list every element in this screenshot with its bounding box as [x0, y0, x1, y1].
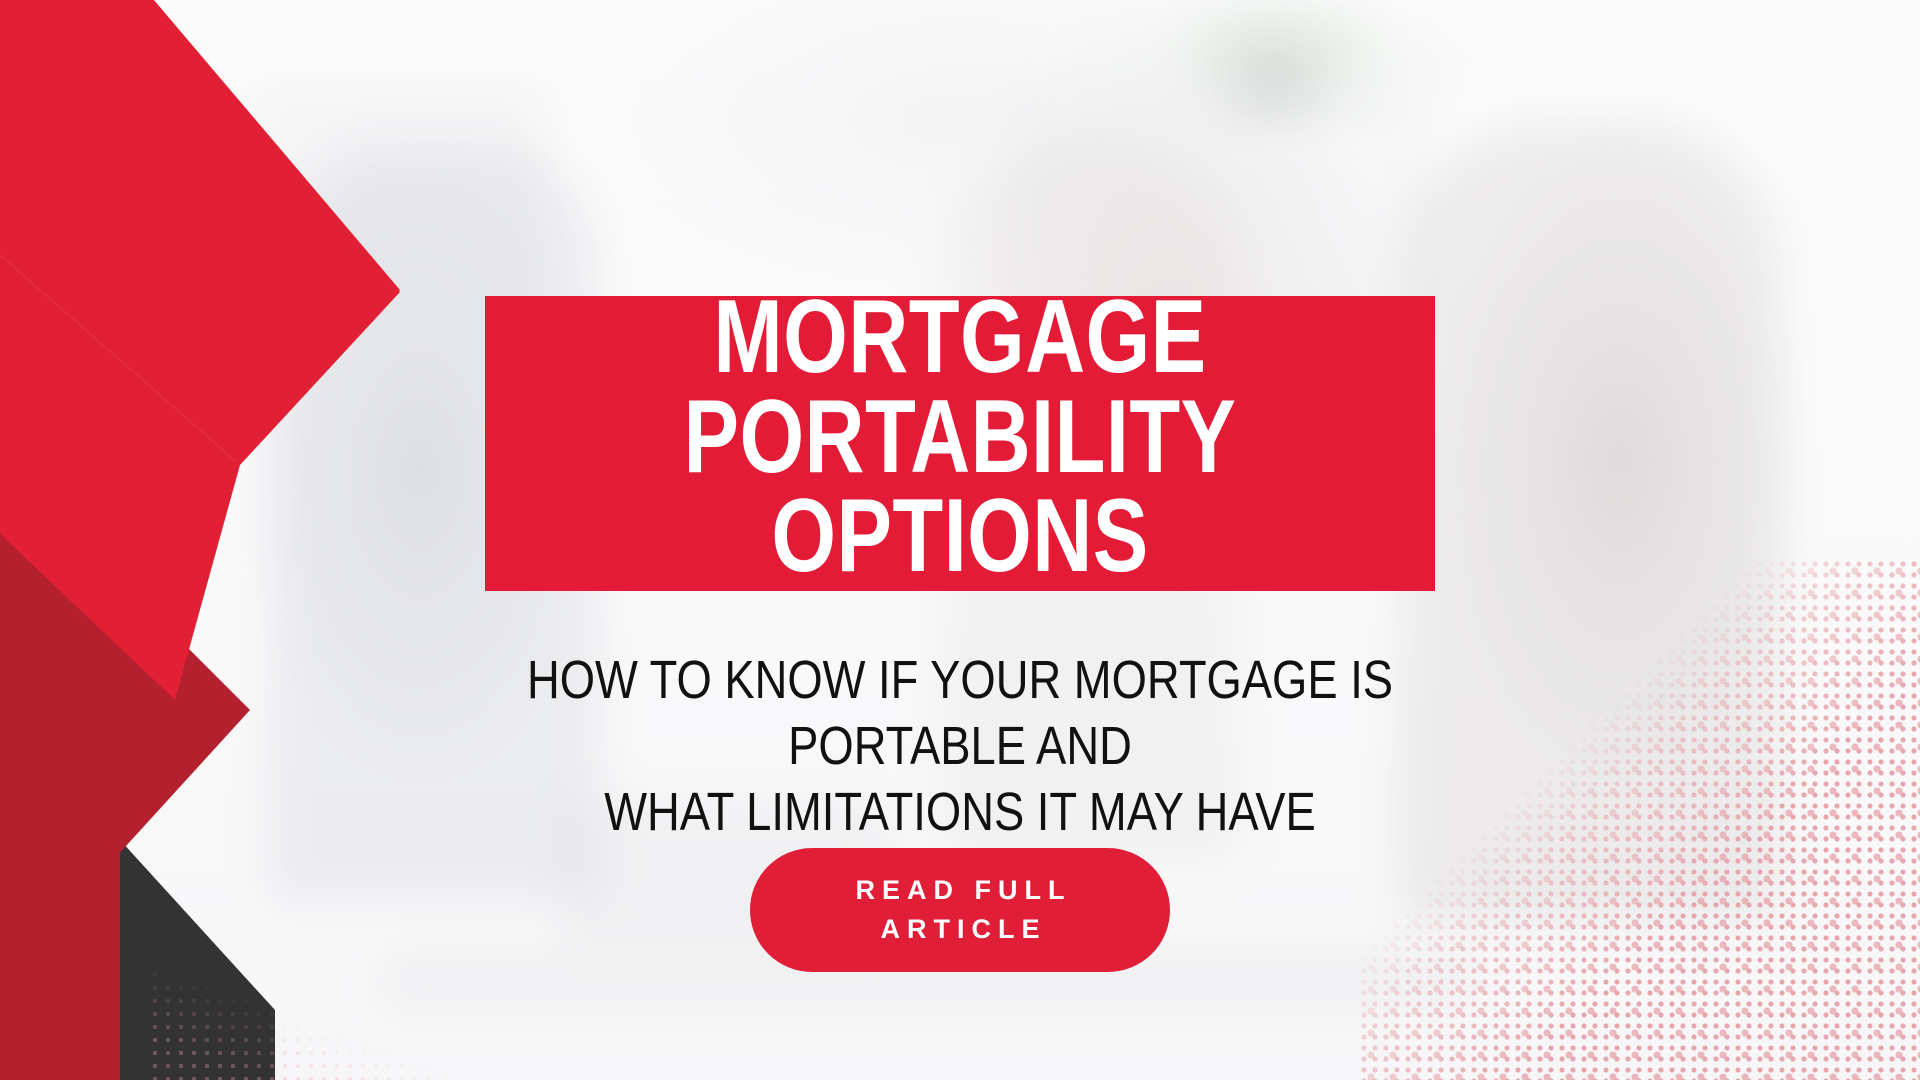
banner-title: Mortgage Portability Options	[604, 288, 1316, 587]
banner-subtitle: How to know if your mortgage is portable…	[473, 648, 1447, 846]
banner-canvas: Mortgage Portability Options How to know…	[0, 0, 1920, 1080]
banner-content: Mortgage Portability Options How to know…	[0, 0, 1920, 1080]
cta-container: Read Full Article	[0, 848, 1920, 972]
read-full-article-button[interactable]: Read Full Article	[750, 848, 1170, 972]
title-banner-box: Mortgage Portability Options	[485, 296, 1435, 591]
